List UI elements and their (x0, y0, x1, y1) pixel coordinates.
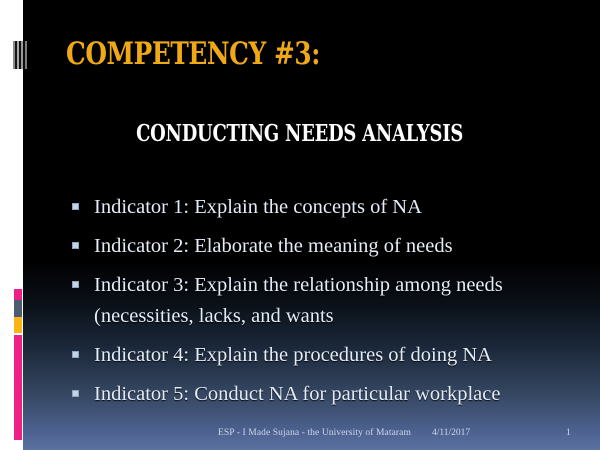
list-item-label: Indicator 2: Elaborate the meaning of ne… (94, 235, 453, 257)
bullet-square-icon (72, 281, 79, 288)
slide-content: COMPETENCY #3: CONDUCTING NEEDS ANALYSIS… (0, 0, 600, 450)
list-item: Indicator 5: Conduct NA for particular w… (70, 379, 570, 410)
list-item-label: Indicator 1: Explain the concepts of NA (94, 196, 422, 218)
bullet-square-icon (72, 203, 79, 210)
list-item-label: Indicator 3: Explain the relationship am… (94, 274, 503, 327)
slide-canvas: COMPETENCY #3: CONDUCTING NEEDS ANALYSIS… (0, 0, 600, 450)
list-item: Indicator 2: Elaborate the meaning of ne… (70, 231, 570, 262)
slide-subtitle: CONDUCTING NEEDS ANALYSIS (0, 120, 600, 147)
footer-credit: ESP - I Made Sujana - the University of … (218, 428, 411, 438)
list-item: Indicator 1: Explain the concepts of NA (70, 192, 570, 223)
slide-title: COMPETENCY #3: (66, 36, 466, 72)
slide-subtitle-text: CONDUCTING NEEDS ANALYSIS (137, 120, 464, 147)
list-item-label: Indicator 5: Conduct NA for particular w… (94, 383, 500, 405)
footer-date: 4/11/2017 (432, 428, 470, 438)
bullet-square-icon (72, 390, 79, 397)
footer-page-number: 1 (566, 428, 571, 438)
list-item: Indicator 3: Explain the relationship am… (70, 270, 570, 332)
bullet-square-icon (72, 351, 79, 358)
list-item: Indicator 4: Explain the procedures of d… (70, 340, 570, 371)
indicator-list: Indicator 1: Explain the concepts of NA … (70, 192, 570, 418)
slide-footer: ESP - I Made Sujana - the University of … (0, 428, 600, 444)
list-item-label: Indicator 4: Explain the procedures of d… (94, 344, 492, 366)
bullet-square-icon (72, 242, 79, 249)
